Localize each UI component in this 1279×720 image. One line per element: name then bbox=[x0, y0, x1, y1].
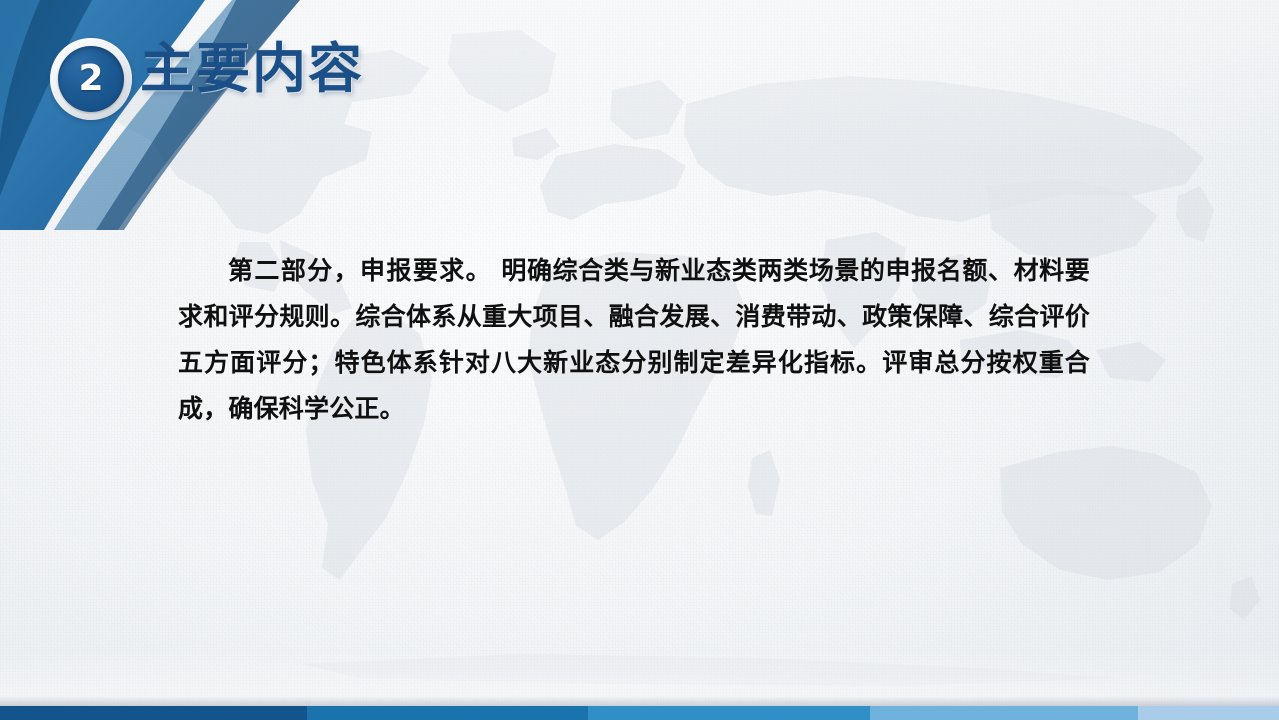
footer-bar-segment-5 bbox=[1138, 706, 1279, 720]
footer-bar-segment-1 bbox=[0, 706, 307, 720]
badge-inner-disc: 2 bbox=[58, 46, 124, 112]
body-lead-phrase: 第二部分，申报要求。 bbox=[228, 256, 492, 285]
badge-number-text: 2 bbox=[78, 61, 103, 97]
footer-color-bar bbox=[0, 706, 1279, 720]
slide-body-content: 第二部分，申报要求。 明确综合类与新业态类两类场景的申报名额、材料要求和评分规则… bbox=[178, 248, 1090, 432]
section-number-badge: 2 bbox=[50, 38, 132, 120]
footer-bar-segment-3 bbox=[588, 706, 869, 720]
presentation-slide: 2 主要内容 第二部分，申报要求。 明确综合类与新业态类两类场景的申报名额、材料… bbox=[0, 0, 1279, 720]
footer-bar-shadow bbox=[0, 696, 1279, 706]
footer-bar-segment-4 bbox=[870, 706, 1139, 720]
footer-bar-segment-2 bbox=[307, 706, 588, 720]
body-paragraph: 第二部分，申报要求。 明确综合类与新业态类两类场景的申报名额、材料要求和评分规则… bbox=[178, 248, 1090, 432]
page-title: 主要内容 bbox=[140, 42, 364, 96]
